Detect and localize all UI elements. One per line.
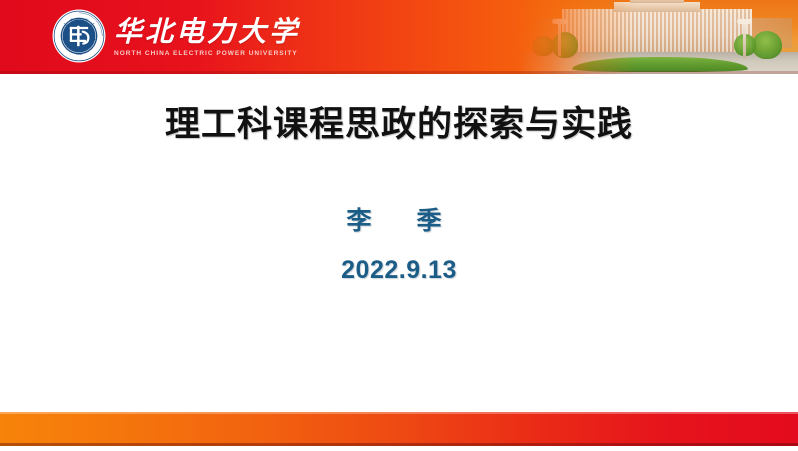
svg-text:1958: 1958 (76, 52, 83, 56)
svg-text:华北电力大学: 华北电力大学 (70, 17, 88, 22)
presentation-slide: 华北电力大学 1958 华北电力大学 NORTH CHINA ELECTRIC … (0, 0, 798, 451)
photo-lamp-right (743, 22, 746, 58)
footer-band (0, 412, 798, 446)
university-logo: 华北电力大学 1958 华北电力大学 NORTH CHINA ELECTRIC … (52, 9, 300, 63)
campus-building-photo (518, 0, 798, 74)
photo-lamp-left (558, 22, 561, 56)
header-band: 华北电力大学 1958 华北电力大学 NORTH CHINA ELECTRIC … (0, 0, 798, 74)
presenter-name: 李 季 (0, 201, 798, 237)
photo-tree-left (532, 36, 554, 56)
page-title: 理工科课程思政的探索与实践 (0, 96, 798, 147)
photo-lawn (572, 57, 748, 72)
logo-wordmark: 华北电力大学 NORTH CHINA ELECTRIC POWER UNIVER… (114, 15, 300, 56)
footer-white-strip (0, 446, 798, 451)
university-name-en: NORTH CHINA ELECTRIC POWER UNIVERSITY (114, 50, 300, 57)
photo-tree-left2 (552, 32, 578, 58)
ncepu-seal-emblem: 华北电力大学 1958 (52, 9, 106, 63)
photo-main-building (562, 9, 752, 53)
photo-tree-right (752, 31, 782, 59)
university-name-cn: 华北电力大学 (114, 17, 300, 46)
presentation-date: 2022.9.13 (0, 256, 798, 285)
